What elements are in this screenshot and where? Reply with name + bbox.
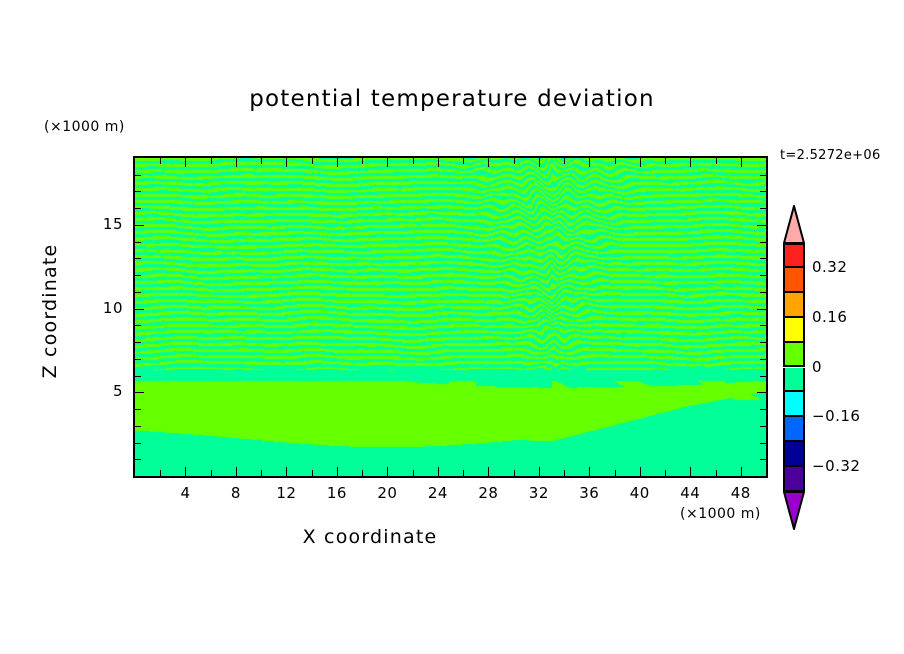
- x-tick-top: [463, 158, 464, 164]
- figure-canvas: potential temperature deviation (×1000 m…: [0, 0, 904, 654]
- contour-field: [135, 158, 766, 476]
- x-tick-label: 48: [721, 484, 761, 502]
- colorbar-band: [783, 243, 805, 268]
- x-tick-bottom: [640, 467, 641, 476]
- y-tick-left: [135, 225, 144, 226]
- colorbar-tick-label: 0: [812, 358, 822, 376]
- x-tick-bottom: [337, 467, 338, 476]
- colorbar-tick-label: −0.32: [812, 457, 860, 475]
- y-tick-left: [135, 342, 141, 343]
- y-axis-title: Z coordinate: [39, 201, 61, 421]
- y-tick-left: [135, 376, 141, 377]
- x-tick-bottom: [413, 470, 414, 476]
- x-tick-top: [665, 158, 666, 164]
- x-tick-top: [640, 158, 641, 167]
- x-tick-bottom: [211, 470, 212, 476]
- x-tick-bottom: [261, 470, 262, 476]
- y-tick-right: [760, 443, 766, 444]
- y-tick-right: [760, 359, 766, 360]
- x-axis-unit-label: (×1000 m): [680, 506, 761, 522]
- x-tick-top: [160, 158, 161, 164]
- y-tick-right: [757, 309, 766, 310]
- x-tick-top: [211, 158, 212, 164]
- x-tick-top: [564, 158, 565, 164]
- y-tick-right: [760, 208, 766, 209]
- y-tick-left: [135, 175, 141, 176]
- x-tick-label: 4: [165, 484, 205, 502]
- time-annotation: t=2.5272e+06: [780, 148, 881, 163]
- x-tick-top: [514, 158, 515, 164]
- x-tick-top: [312, 158, 313, 164]
- x-axis-title: X coordinate: [0, 526, 740, 548]
- x-tick-top: [488, 158, 489, 167]
- x-tick-bottom: [615, 470, 616, 476]
- y-tick-left: [135, 275, 141, 276]
- x-tick-top: [362, 158, 363, 164]
- x-tick-bottom: [716, 470, 717, 476]
- x-tick-bottom: [286, 467, 287, 476]
- x-tick-label: 40: [620, 484, 660, 502]
- y-tick-left: [135, 409, 141, 410]
- contour-plot-area: [133, 156, 768, 478]
- y-tick-left: [135, 459, 141, 460]
- y-tick-left: [135, 309, 144, 310]
- x-tick-top: [438, 158, 439, 167]
- y-tick-right: [760, 191, 766, 192]
- y-tick-left: [135, 292, 141, 293]
- x-tick-bottom: [160, 470, 161, 476]
- y-tick-left: [135, 191, 141, 192]
- x-tick-bottom: [514, 470, 515, 476]
- x-tick-bottom: [488, 467, 489, 476]
- y-tick-left: [135, 359, 141, 360]
- x-tick-label: 12: [266, 484, 306, 502]
- colorbar-tick-label: 0.32: [812, 258, 847, 276]
- x-tick-top: [589, 158, 590, 167]
- y-tick-right: [760, 376, 766, 377]
- y-tick-right: [760, 242, 766, 243]
- y-tick-left: [135, 258, 141, 259]
- x-tick-top: [261, 158, 262, 164]
- colorbar-band: [783, 442, 805, 467]
- colorbar-band: [783, 318, 805, 343]
- y-axis-unit-label: (×1000 m): [44, 119, 125, 135]
- y-tick-left: [135, 208, 141, 209]
- x-tick-top: [690, 158, 691, 167]
- y-tick-right: [760, 258, 766, 259]
- y-tick-label: 15: [83, 215, 123, 233]
- x-tick-bottom: [741, 467, 742, 476]
- y-tick-right: [760, 292, 766, 293]
- y-tick-right: [760, 325, 766, 326]
- y-tick-right: [760, 342, 766, 343]
- y-tick-left: [135, 426, 141, 427]
- chart-title: potential temperature deviation: [0, 86, 904, 112]
- y-tick-right: [760, 275, 766, 276]
- colorbar-tick-label: 0.16: [812, 308, 847, 326]
- colorbar-top-arrow: [783, 205, 805, 244]
- colorbar-band: [783, 392, 805, 417]
- x-tick-bottom: [438, 467, 439, 476]
- colorbar: [783, 243, 805, 492]
- x-tick-bottom: [387, 467, 388, 476]
- colorbar-band: [783, 417, 805, 442]
- y-tick-right: [760, 459, 766, 460]
- x-tick-label: 8: [216, 484, 256, 502]
- y-tick-left: [135, 325, 141, 326]
- x-tick-label: 36: [569, 484, 609, 502]
- x-tick-bottom: [236, 467, 237, 476]
- x-tick-bottom: [690, 467, 691, 476]
- x-tick-top: [413, 158, 414, 164]
- colorbar-band: [783, 343, 805, 368]
- colorbar-tick-label: −0.16: [812, 407, 860, 425]
- x-tick-bottom: [665, 470, 666, 476]
- y-tick-left: [135, 443, 141, 444]
- x-tick-top: [387, 158, 388, 167]
- x-tick-top: [236, 158, 237, 167]
- colorbar-band: [783, 268, 805, 293]
- colorbar-band: [783, 368, 805, 393]
- y-tick-right: [757, 225, 766, 226]
- x-tick-label: 32: [519, 484, 559, 502]
- x-tick-top: [539, 158, 540, 167]
- x-tick-bottom: [589, 467, 590, 476]
- x-tick-bottom: [312, 470, 313, 476]
- x-tick-label: 20: [367, 484, 407, 502]
- x-tick-bottom: [564, 470, 565, 476]
- x-tick-label: 24: [418, 484, 458, 502]
- colorbar-bottom-arrow: [783, 491, 805, 530]
- x-tick-label: 16: [317, 484, 357, 502]
- colorbar-band: [783, 467, 805, 492]
- x-tick-bottom: [463, 470, 464, 476]
- y-tick-left: [135, 392, 144, 393]
- x-tick-label: 44: [670, 484, 710, 502]
- y-tick-label: 5: [83, 382, 123, 400]
- x-tick-top: [716, 158, 717, 164]
- x-tick-bottom: [539, 467, 540, 476]
- x-tick-top: [741, 158, 742, 167]
- x-tick-bottom: [362, 470, 363, 476]
- x-tick-top: [615, 158, 616, 164]
- y-tick-right: [760, 426, 766, 427]
- x-tick-top: [185, 158, 186, 167]
- y-tick-right: [760, 409, 766, 410]
- colorbar-band: [783, 293, 805, 318]
- x-tick-top: [337, 158, 338, 167]
- y-tick-right: [760, 175, 766, 176]
- y-tick-left: [135, 242, 141, 243]
- y-tick-right: [757, 392, 766, 393]
- y-tick-label: 10: [83, 299, 123, 317]
- x-tick-bottom: [185, 467, 186, 476]
- x-tick-label: 28: [468, 484, 508, 502]
- x-tick-top: [286, 158, 287, 167]
